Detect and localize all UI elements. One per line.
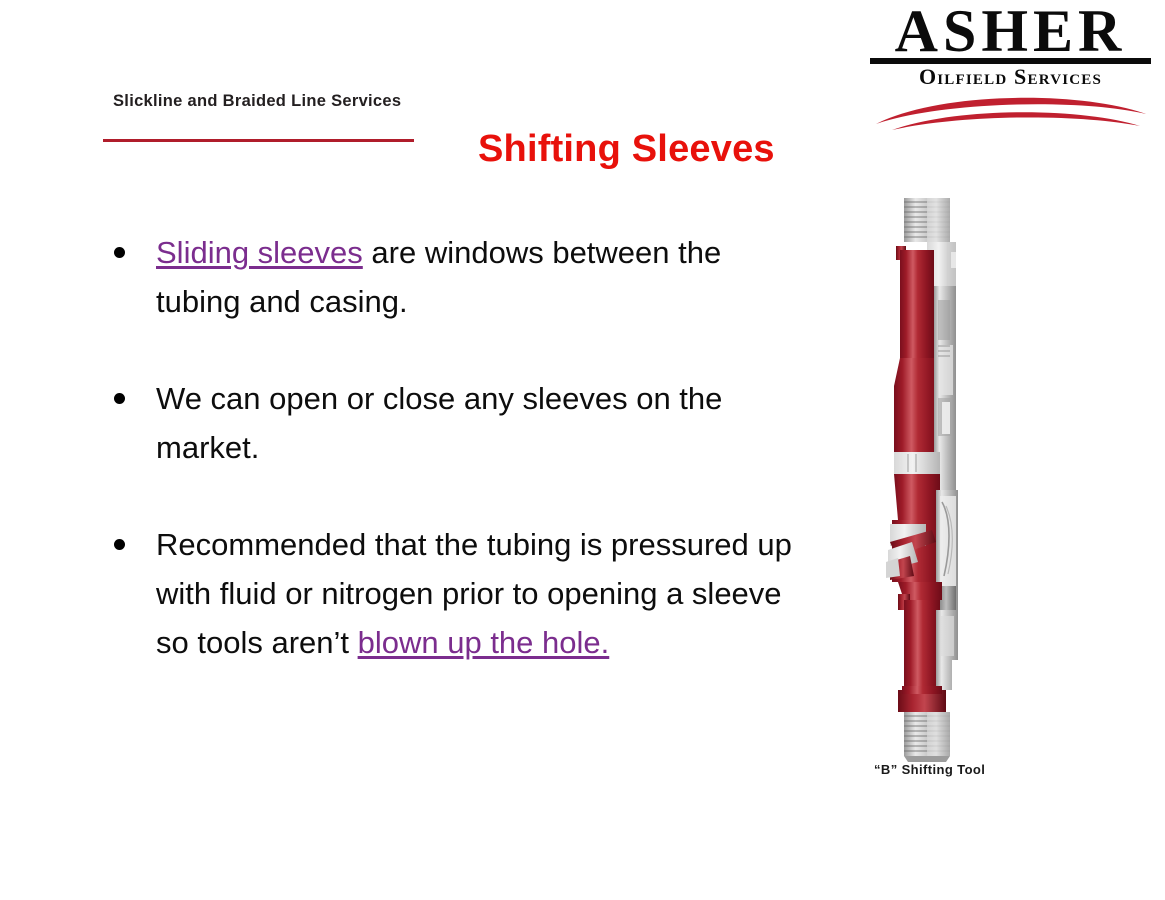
subtitle-red-rule [103,139,414,142]
logo-wordmark: ASHER [868,2,1153,60]
bullet-list: Sliding sleeves are windows between the … [108,228,808,667]
bullet-dot-icon [114,247,125,258]
bullet-text: Sliding sleeves are windows between the … [156,235,721,319]
asher-oilfield-services-logo: ASHER Oilfield Services [868,2,1153,132]
bullet-item: Sliding sleeves are windows between the … [108,228,808,326]
bullet-text-run: We can open or close any sleeves on the … [156,381,722,465]
logo-tagline: Oilfield Services [868,64,1153,90]
bullet-dot-icon [114,393,125,404]
bullet-text: We can open or close any sleeves on the … [156,381,722,465]
slide-canvas: ASHER Oilfield Services Slickline and Br… [0,0,1165,900]
bullet-item: We can open or close any sleeves on the … [108,374,808,472]
bullet-item: Recommended that the tubing is pressured… [108,520,808,667]
logo-swoosh-arcs-icon [868,88,1153,132]
bullet-dot-icon [114,539,125,550]
page-title: Shifting Sleeves [478,128,775,171]
shifting-tool-figure: “B” Shifting Tool [852,190,1012,800]
bullet-hyperlink[interactable]: Sliding sleeves [156,235,363,270]
b-shifting-tool-icon [852,190,1012,765]
bullet-text: Recommended that the tubing is pressured… [156,527,792,660]
figure-caption: “B” Shifting Tool [852,762,1154,777]
bullet-hyperlink[interactable]: blown up the hole. [358,625,610,660]
slide-subtitle: Slickline and Braided Line Services [113,92,401,111]
